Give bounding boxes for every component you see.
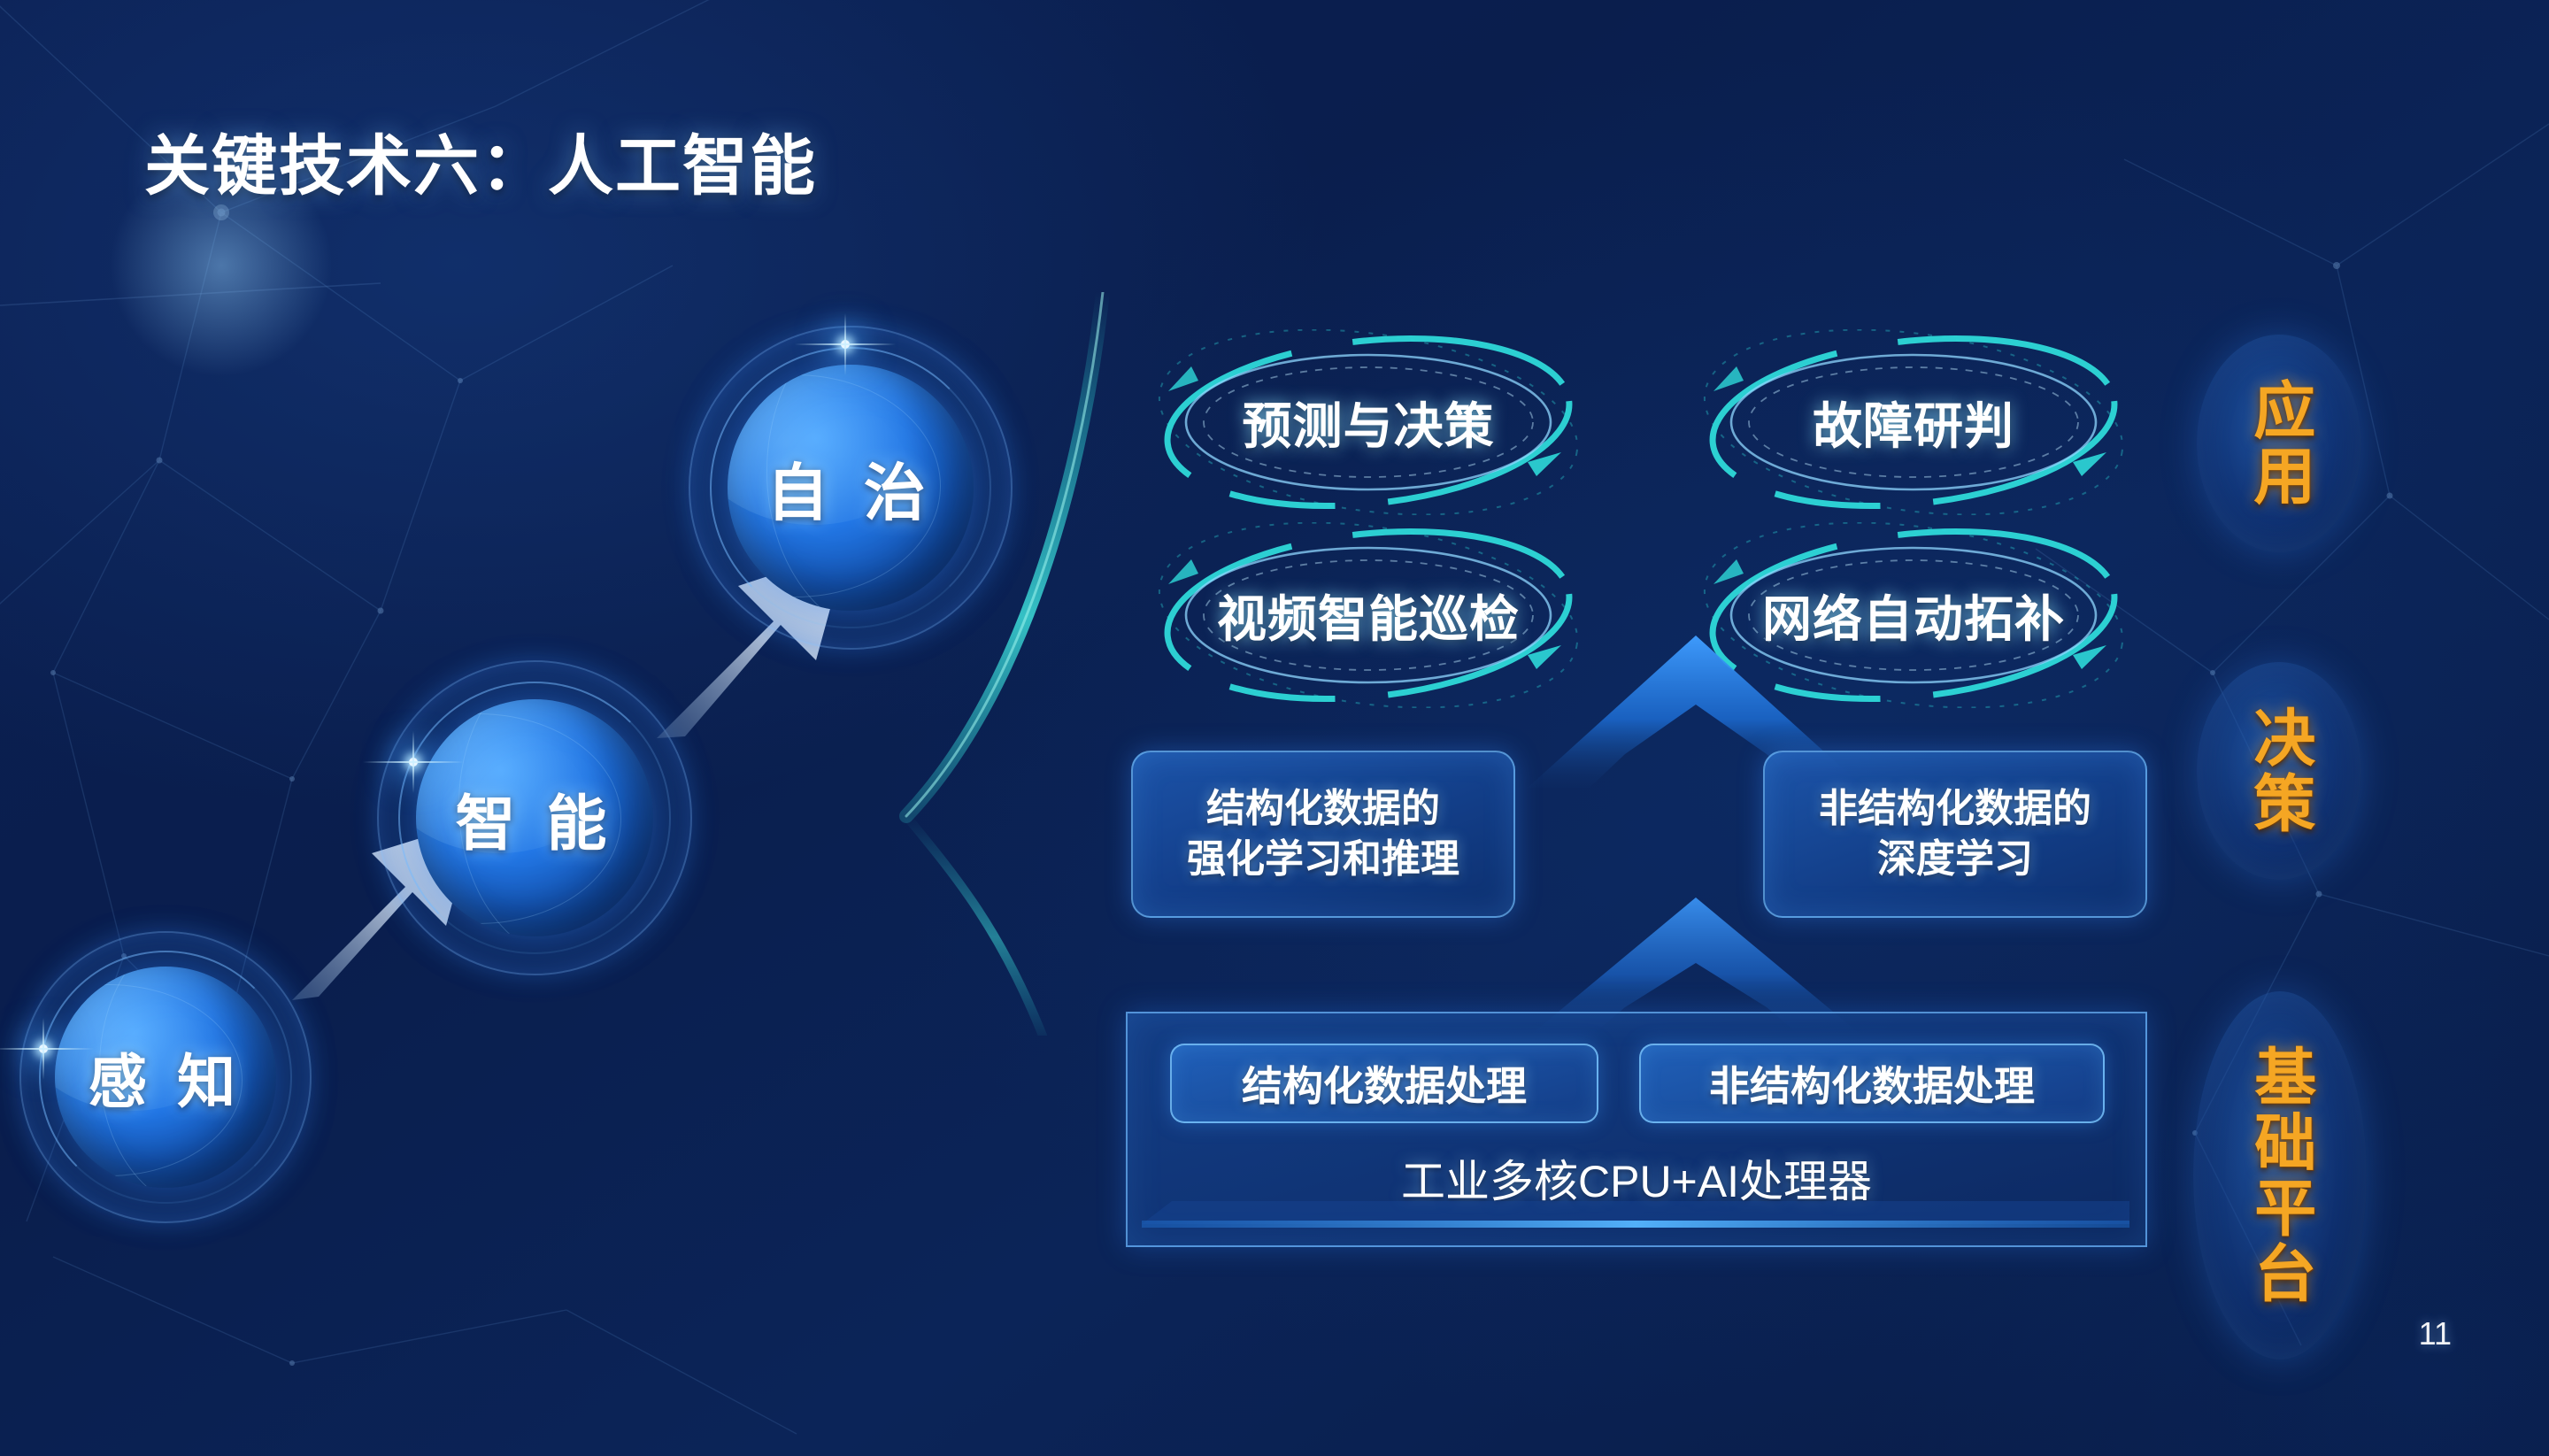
category-label: 应用 bbox=[2247, 378, 2310, 509]
maturity-stage-perception[interactable]: 感 知 bbox=[19, 931, 312, 1223]
decision-item-line2: 深度学习 bbox=[1877, 835, 2033, 884]
application-item-label: 预测与决策 bbox=[1147, 329, 1590, 515]
application-item-label: 故障研判 bbox=[1692, 329, 2135, 515]
category-base-platform[interactable]: 基础平台 bbox=[2193, 991, 2367, 1360]
category-label: 基础平台 bbox=[2248, 1044, 2311, 1306]
decision-item-line1: 非结构化数据的 bbox=[1819, 784, 2091, 834]
decision-item-line1: 结构化数据的 bbox=[1206, 784, 1440, 834]
decision-item-structured[interactable]: 结构化数据的 强化学习和推理 bbox=[1131, 751, 1515, 918]
platform-item-label: 结构化数据处理 bbox=[1242, 1054, 1527, 1113]
stage-label: 感 知 bbox=[19, 931, 312, 1223]
application-item-prediction[interactable]: 预测与决策 bbox=[1147, 329, 1590, 515]
platform-item-structured-processing[interactable]: 结构化数据处理 bbox=[1170, 1044, 1598, 1123]
page-number: 11 bbox=[2419, 1315, 2452, 1352]
category-decision[interactable]: 决策 bbox=[2197, 662, 2361, 880]
platform-item-unstructured-processing[interactable]: 非结构化数据处理 bbox=[1639, 1044, 2105, 1123]
stage-label: 自 治 bbox=[689, 326, 1013, 650]
maturity-stage-autonomy[interactable]: 自 治 bbox=[689, 326, 1013, 650]
platform-item-label: 非结构化数据处理 bbox=[1709, 1054, 2035, 1113]
page-title: 关键技术六：人工智能 bbox=[144, 113, 817, 208]
decision-item-line2: 强化学习和推理 bbox=[1187, 835, 1459, 884]
category-label: 决策 bbox=[2247, 705, 2310, 836]
application-item-fault-diagnosis[interactable]: 故障研判 bbox=[1692, 329, 2135, 515]
platform-frame: 结构化数据处理 非结构化数据处理 工业多核CPU+AI处理器 bbox=[1126, 1012, 2147, 1247]
category-application[interactable]: 应用 bbox=[2197, 335, 2361, 552]
platform-base-slab bbox=[1142, 1201, 2129, 1228]
slide-canvas: 关键技术六：人工智能 感 知 智 能 bbox=[0, 0, 2549, 1456]
